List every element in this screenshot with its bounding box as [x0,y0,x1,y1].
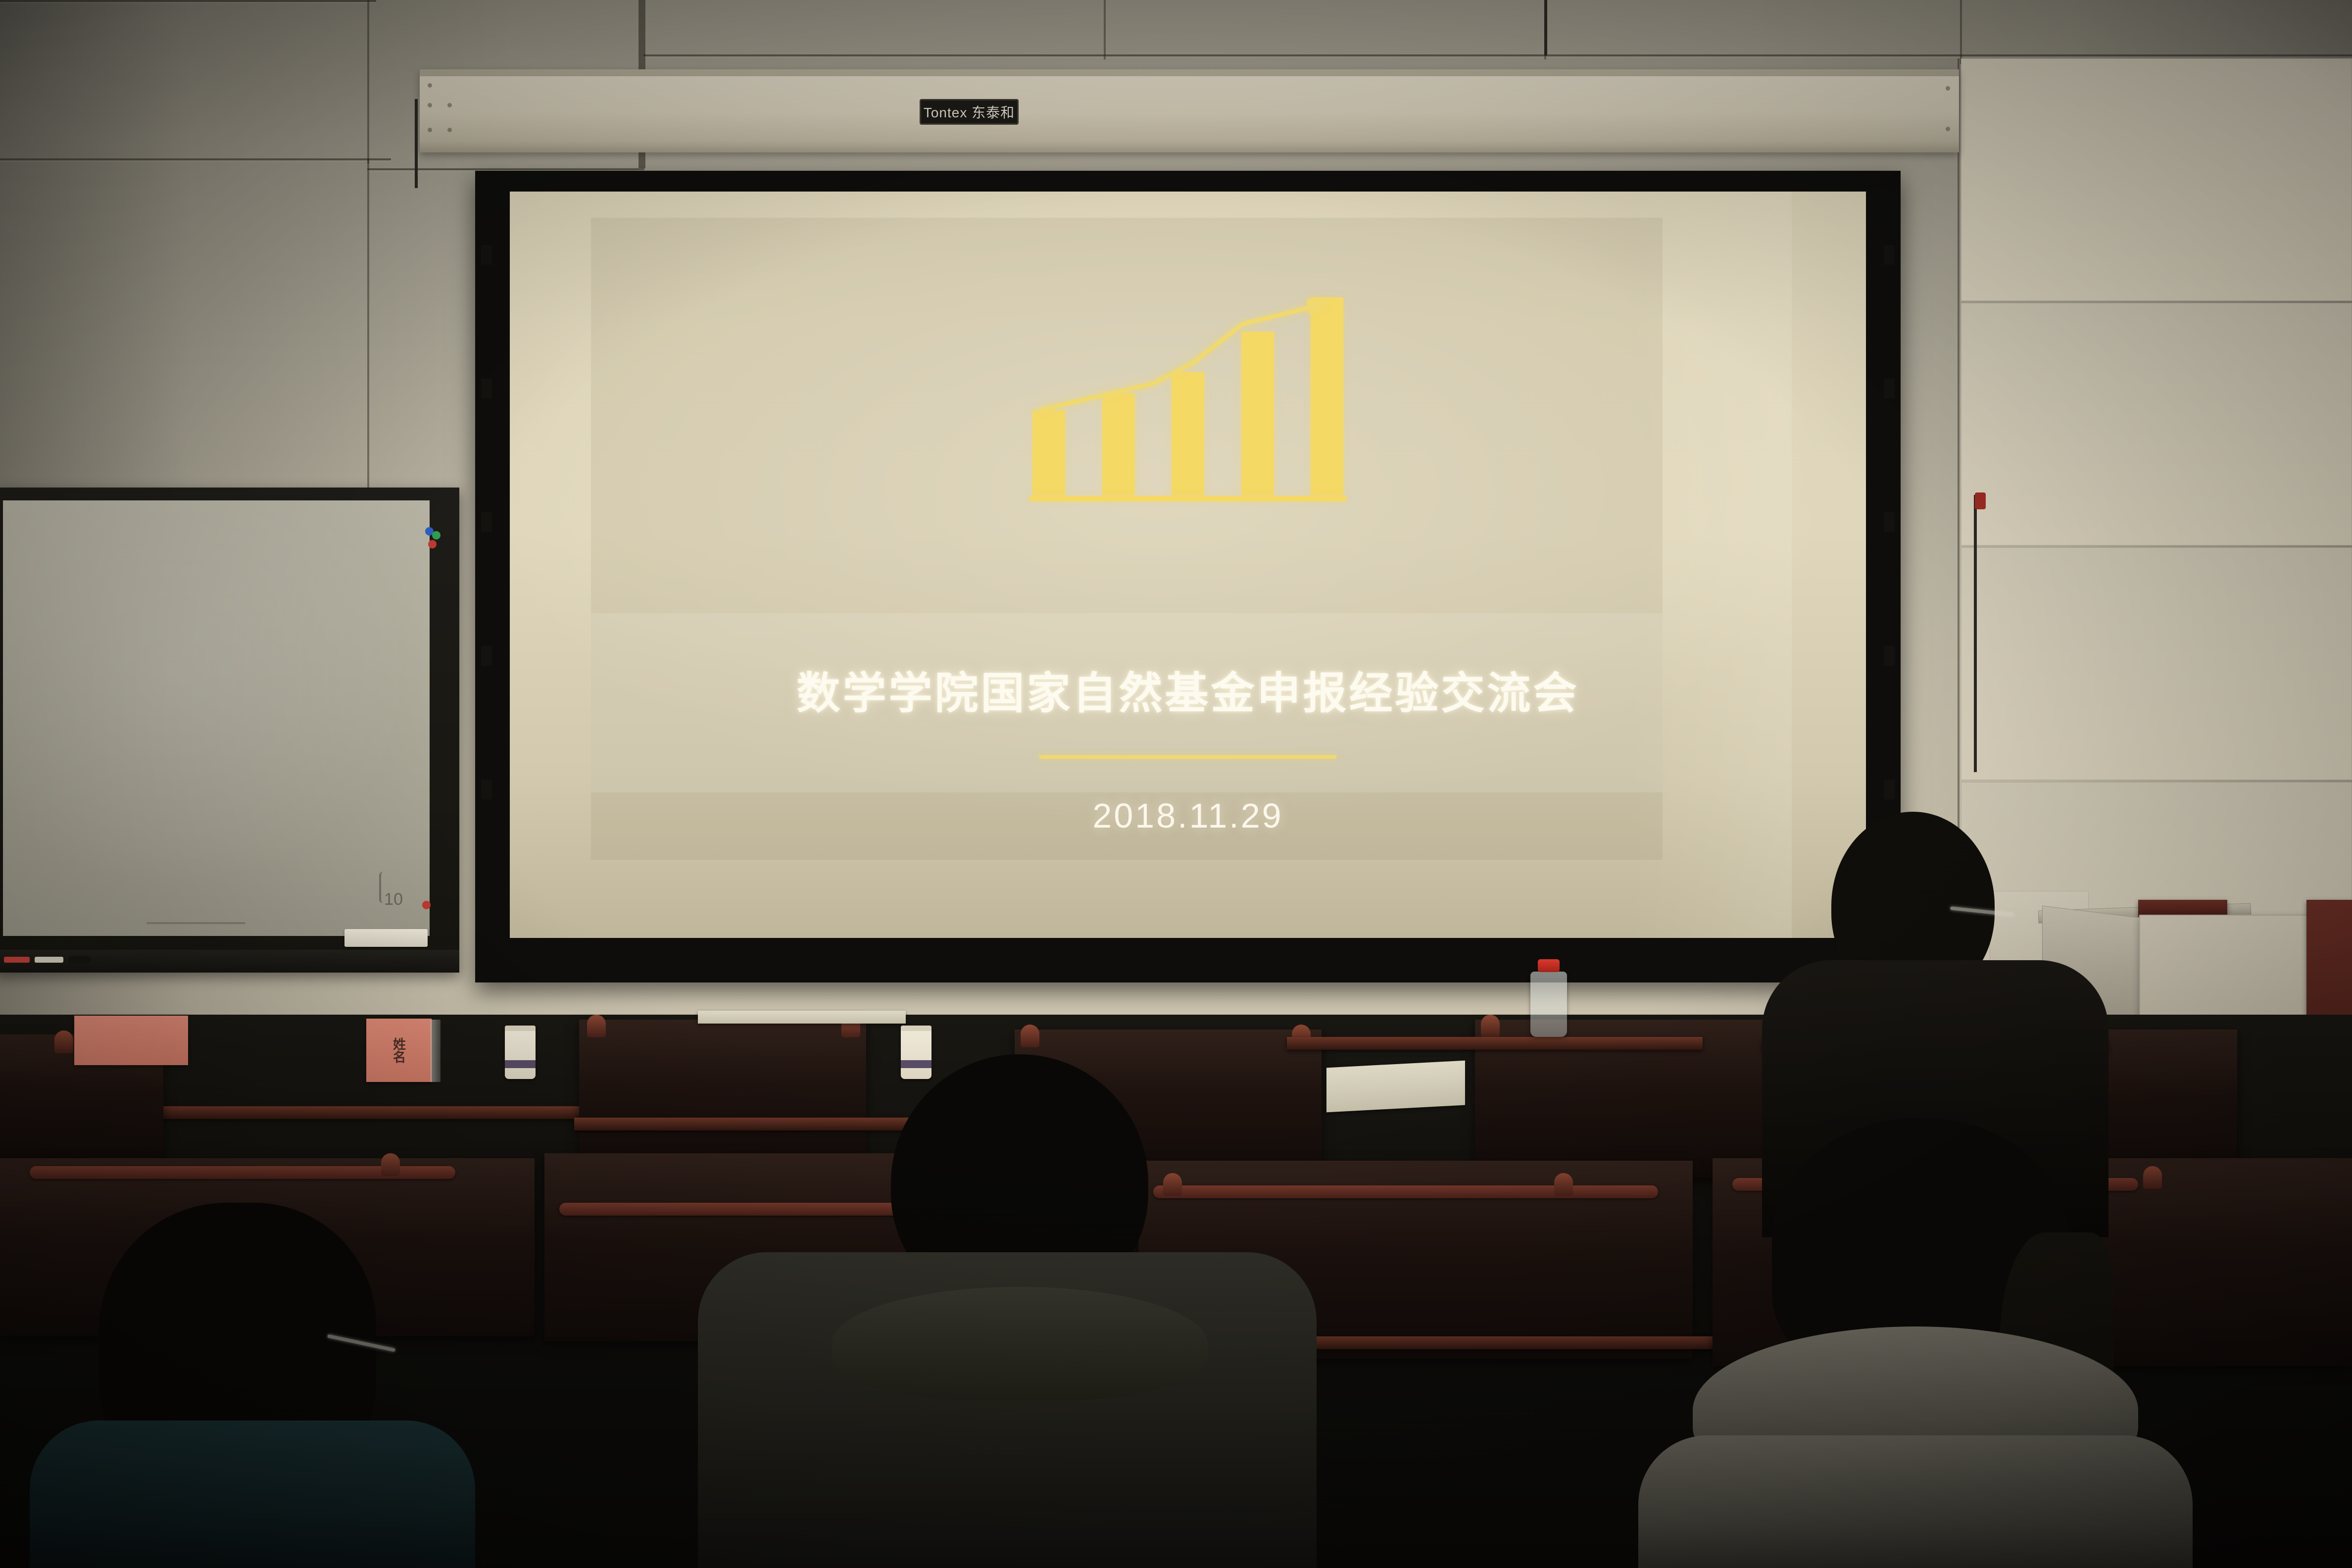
projection-screen: 数学学院国家自然基金申报经验交流会 2018.11.29 [475,171,1901,982]
housing-screw [428,103,432,107]
person-torso [30,1421,475,1568]
screen-tensioner [1884,245,1895,265]
rail-wood-cap [2138,900,2227,917]
marker-pen[interactable] [35,957,63,963]
whiteboard-magnet[interactable] [422,901,431,909]
bench-end-cap [1021,1025,1039,1047]
bench-end-cap [1481,1015,1500,1037]
housing-screw [1946,86,1950,91]
wall-panel-right [1961,547,2352,780]
wall-seam [367,158,369,495]
bottle-cap [1538,959,1560,972]
projector-screen-housing: Tontex 东泰和 [420,69,1959,152]
wall-panel-right [1961,303,2352,545]
wall-seam [0,0,376,2]
handout-papers [698,1011,906,1024]
housing-lip [420,69,1959,76]
name-card-text: 姓名 [390,1037,408,1063]
desk-row-mid [1287,1037,1703,1050]
whiteboard: 10 [0,488,459,973]
person-torso [1638,1435,2193,1568]
whiteboard-magnet[interactable] [432,531,441,539]
name-card-stand [431,1020,441,1082]
projected-slide: 数学学院国家自然基金申报经验交流会 2018.11.29 [510,192,1866,938]
housing-power-cable [415,99,418,188]
chart-trend-arrow [1029,289,1346,501]
slide-title: 数学学院国家自然基金申报经验交流会 [510,658,1866,721]
marker-pen[interactable] [4,957,30,963]
ceiling-cable [1544,0,1547,55]
name-card [74,1016,188,1065]
housing-screw [428,83,432,88]
screen-tensioner [481,245,492,265]
screen-tensioner [1884,780,1895,799]
housing-screw [447,103,452,107]
wall-seam [0,158,391,160]
screen-tensioner [1884,646,1895,666]
marker-pen[interactable] [68,956,91,964]
screen-drop-cable [1974,495,1977,772]
screen-tensioner [1884,379,1895,398]
wall-seam [1104,0,1106,59]
wall-seam [643,54,2352,56]
bench-end-cap [54,1030,73,1053]
screen-tensioner [481,512,492,532]
wall-seam [367,168,644,170]
bench-end-cap [1554,1173,1573,1196]
name-card: 姓名 [366,1019,432,1082]
housing-screw [447,128,452,132]
wall-seam [367,0,369,163]
screen-tensioner [481,780,492,799]
screen-tensioner [1884,512,1895,532]
audience-person-front-center [683,1054,1326,1568]
bench-end-cap [587,1015,606,1037]
audience-person-front-left [30,1203,475,1568]
whiteboard-tray [0,950,459,973]
slide-title-underline [1039,755,1336,759]
audience-person-front-right [1623,1119,2217,1568]
screen-tensioner [481,646,492,666]
housing-screw [1946,127,1950,131]
screen-tensioner [481,379,492,398]
wall-panel-right [1961,58,2352,301]
whiteboard-smudge [147,922,245,924]
cable-clip [1975,492,1986,509]
handout-papers [1326,1061,1465,1113]
whiteboard-eraser[interactable] [344,929,428,947]
bench-end-cap [381,1153,400,1176]
wall-seam [1960,0,1962,64]
water-bottle [1530,972,1567,1037]
whiteboard-surface: 10 [3,500,430,936]
jacket-collar [832,1287,1208,1401]
whiteboard-mark [379,872,387,903]
lecture-hall-photo: Tontex 东泰和 [0,0,2352,1568]
housing-screw [428,128,432,132]
paper-cup [505,1026,536,1079]
slide-bar-chart [1029,289,1346,501]
slide-date: 2018.11.29 [510,796,1866,835]
whiteboard-magnet[interactable] [428,540,437,548]
screen-brand-badge: Tontex 东泰和 [920,99,1019,125]
